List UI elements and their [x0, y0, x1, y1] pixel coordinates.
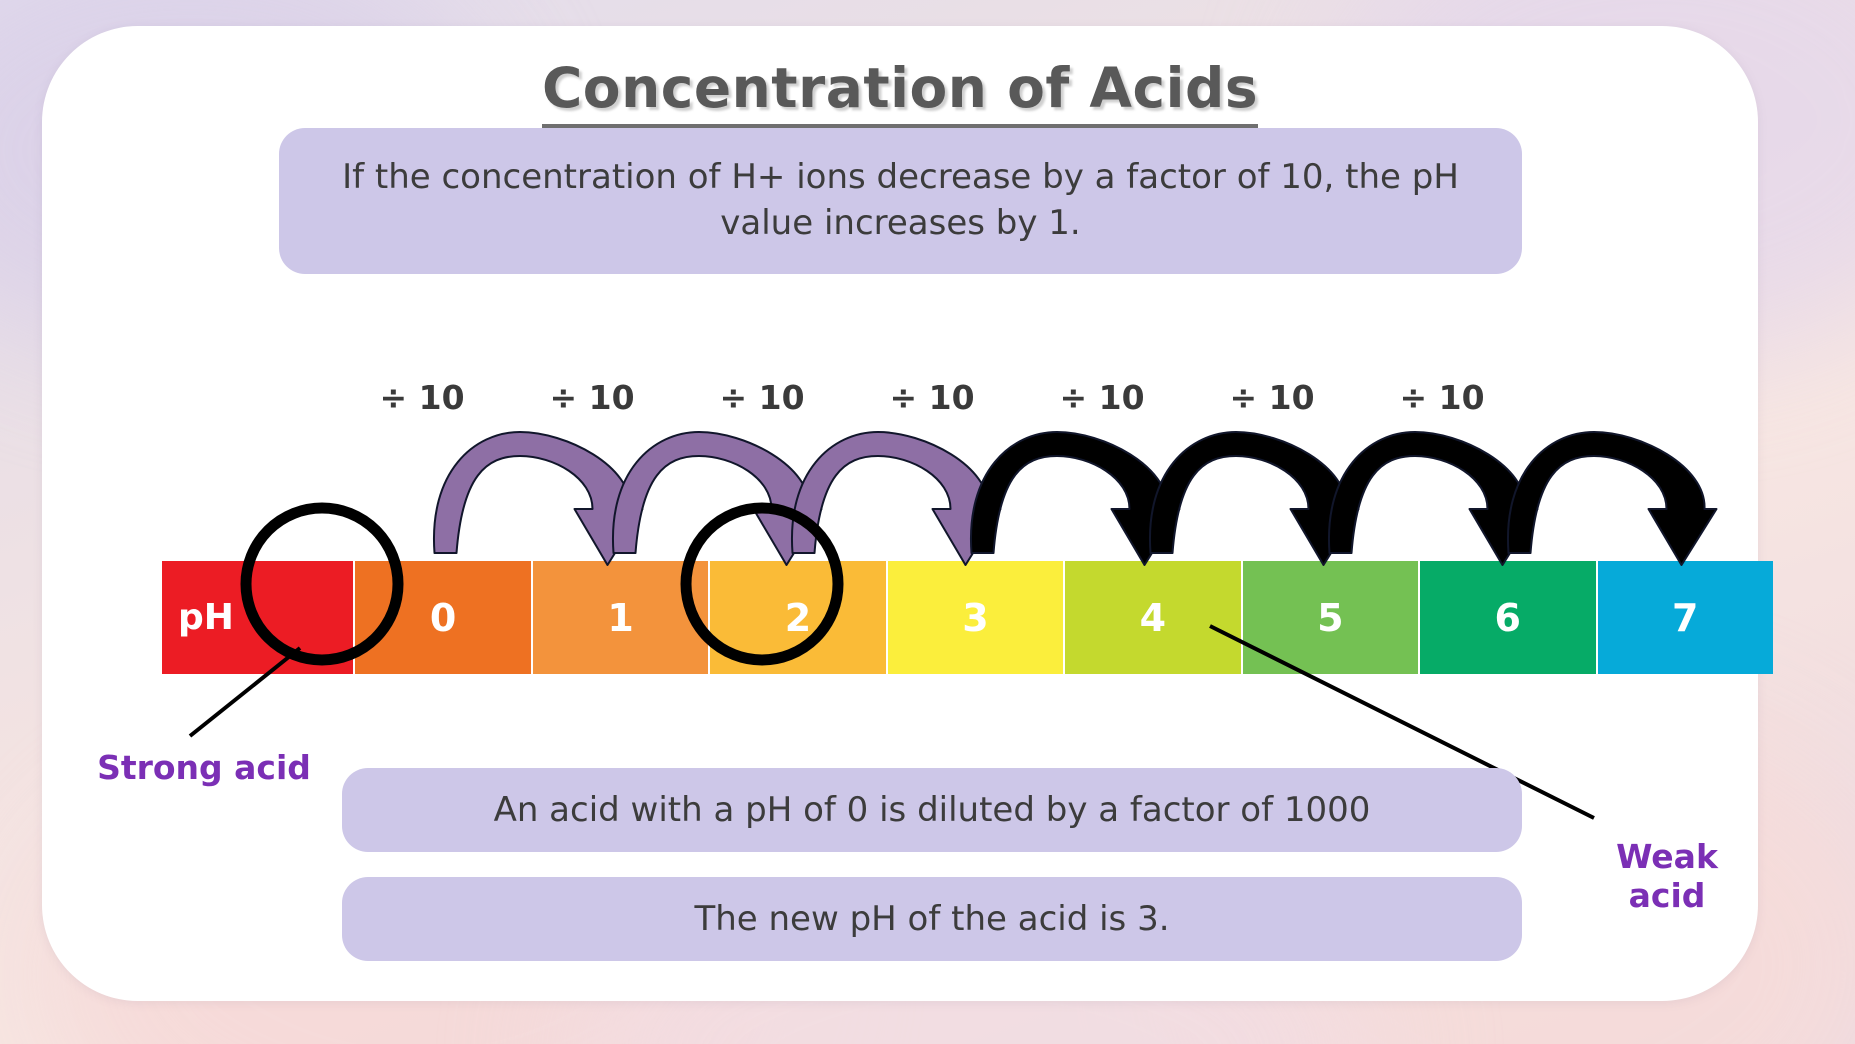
- ph-scale-cell-6: 6: [1420, 561, 1597, 674]
- ph-scale-cell-7: 7: [1598, 561, 1773, 674]
- dilution-arrow-7: [1508, 432, 1717, 565]
- weak-acid-annotation: Weak acid: [1587, 838, 1747, 916]
- slide-root: Concentration of Acids If the concentrat…: [0, 0, 1855, 1044]
- slide-card: Concentration of Acids If the concentrat…: [42, 26, 1758, 1001]
- divide-by-ten-label-2: ÷ 10: [532, 378, 652, 417]
- intro-statement-text: If the concentration of H+ ions decrease…: [305, 155, 1496, 247]
- dilution-arrow-6: [1329, 432, 1538, 565]
- divide-by-ten-label-7: ÷ 10: [1382, 378, 1502, 417]
- dilution-arrow-layer: [434, 432, 1717, 565]
- dilution-arrow-1: [434, 432, 643, 565]
- ph-scale-row-label: pH: [162, 561, 355, 674]
- page-title: Concentration of Acids: [42, 56, 1758, 128]
- strong-acid-annotation: Strong acid: [84, 749, 324, 788]
- divide-by-ten-label-5: ÷ 10: [1042, 378, 1162, 417]
- diluted-statement-box: An acid with a pH of 0 is diluted by a f…: [342, 768, 1522, 852]
- ph-scale-cell-5: 5: [1243, 561, 1420, 674]
- page-title-text: Concentration of Acids: [542, 56, 1258, 128]
- intro-statement-box: If the concentration of H+ ions decrease…: [279, 128, 1522, 274]
- divide-by-ten-label-4: ÷ 10: [872, 378, 992, 417]
- dilution-arrow-3: [792, 432, 1001, 565]
- diluted-statement-text: An acid with a pH of 0 is diluted by a f…: [494, 790, 1371, 830]
- ph-scale-cell-3: 3: [888, 561, 1065, 674]
- divide-label-row: ÷ 10÷ 10÷ 10÷ 10÷ 10÷ 10÷ 10: [337, 378, 1527, 422]
- divide-by-ten-label-6: ÷ 10: [1212, 378, 1332, 417]
- new-ph-statement-text: The new pH of the acid is 3.: [694, 899, 1169, 939]
- ph-scale-cell-0: 0: [355, 561, 532, 674]
- new-ph-statement-box: The new pH of the acid is 3.: [342, 877, 1522, 961]
- dilution-arrow-5: [1150, 432, 1359, 565]
- ph-scale-cell-4: 4: [1065, 561, 1242, 674]
- dilution-arrow-4: [971, 432, 1180, 565]
- ph-scale-cell-1: 1: [533, 561, 710, 674]
- dilution-arrow-2: [613, 432, 822, 565]
- divide-by-ten-label-1: ÷ 10: [362, 378, 482, 417]
- ph-scale-bar: pH01234567: [162, 561, 1773, 674]
- ph-scale-cell-2: 2: [710, 561, 887, 674]
- divide-by-ten-label-3: ÷ 10: [702, 378, 822, 417]
